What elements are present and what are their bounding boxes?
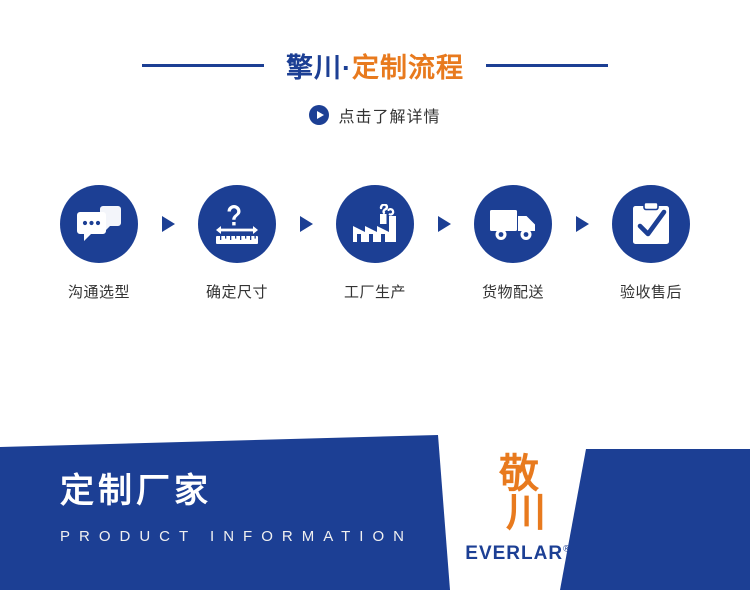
- subtitle-row[interactable]: 点击了解详情: [0, 103, 750, 127]
- factory-icon: [351, 204, 399, 244]
- page-header: 擎川·定制流程 点击了解详情: [0, 0, 750, 127]
- checklist-clipboard-icon: [631, 202, 671, 246]
- title-row: 擎川·定制流程: [0, 46, 750, 85]
- logo-mark-bottom: 川: [472, 494, 578, 533]
- ruler-measure-icon: [214, 203, 260, 245]
- logo-mark: 敬 川: [458, 455, 578, 533]
- page-title: 擎川·定制流程: [264, 46, 486, 85]
- step-label: 确定尺寸: [206, 281, 268, 302]
- footer-title: 定制厂家: [60, 473, 413, 510]
- step-icon-circle: [612, 185, 690, 263]
- footer-subtitle: PRODUCT INFORMATION: [60, 528, 413, 545]
- process-steps: 沟通选型 确定尺寸: [0, 185, 750, 302]
- page-title-accent: 定制流程: [352, 53, 464, 83]
- step-icon-circle: [60, 185, 138, 263]
- title-rule-left: [142, 64, 264, 67]
- logo-wordmark-text: EVERLAR: [465, 543, 563, 564]
- title-rule-right: [486, 64, 608, 67]
- step-item[interactable]: 工厂生产: [320, 185, 430, 302]
- arrow-right-icon: [430, 185, 458, 263]
- chat-bubbles-icon: [77, 204, 121, 244]
- step-item[interactable]: 沟通选型: [44, 185, 154, 302]
- step-label: 工厂生产: [344, 281, 406, 302]
- delivery-truck-icon: [489, 206, 537, 242]
- brand-logo: 敬 川 EVERLAR®: [458, 455, 578, 565]
- logo-wordmark: EVERLAR®: [465, 543, 570, 565]
- step-label: 验收售后: [620, 281, 682, 302]
- footer-banner: 定制厂家 PRODUCT INFORMATION 敬 川 EVERLAR®: [0, 425, 750, 590]
- step-item[interactable]: 验收售后: [596, 185, 706, 302]
- registered-trademark-icon: ®: [563, 544, 571, 554]
- subtitle-text: 点击了解详情: [338, 103, 440, 127]
- page-title-main: 擎川: [286, 53, 342, 83]
- arrow-right-icon: [154, 185, 182, 263]
- step-item[interactable]: 确定尺寸: [182, 185, 292, 302]
- play-icon[interactable]: [309, 105, 329, 125]
- step-label: 沟通选型: [68, 281, 130, 302]
- step-label: 货物配送: [482, 281, 544, 302]
- page-title-separator: ·: [342, 53, 352, 83]
- step-icon-circle: [474, 185, 552, 263]
- footer-text-block: 定制厂家 PRODUCT INFORMATION: [60, 473, 413, 545]
- step-item[interactable]: 货物配送: [458, 185, 568, 302]
- footer-band-right: [560, 449, 750, 590]
- step-icon-circle: [198, 185, 276, 263]
- arrow-right-icon: [568, 185, 596, 263]
- arrow-right-icon: [292, 185, 320, 263]
- step-icon-circle: [336, 185, 414, 263]
